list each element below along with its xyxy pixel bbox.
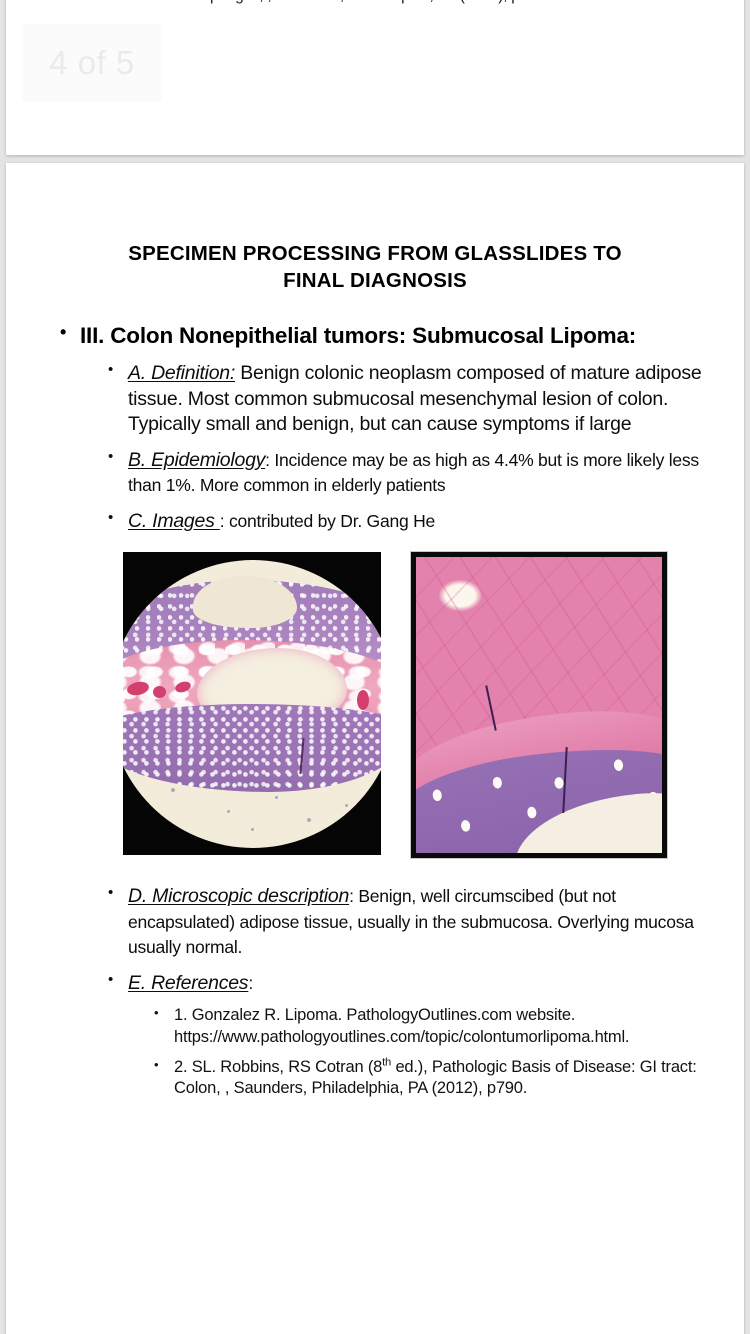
debris-dot-4	[307, 818, 311, 822]
images-label: C. Images	[128, 510, 220, 532]
microscope-field-circle	[123, 560, 381, 848]
tissue-section-left	[123, 574, 381, 782]
references-label: E. References	[128, 972, 248, 994]
document-page-previous[interactable]: http://www.pathologyoutlines.com/topic/e…	[6, 0, 744, 155]
epidemiology-label: B. Epidemiology	[128, 449, 265, 471]
reference-1-text: 1. Gonzalez R. Lipoma. PathologyOutlines…	[174, 1006, 629, 1045]
debris-dot-2	[227, 810, 230, 813]
reference-item-2: 2. SL. Robbins, RS Cotran (8th ed.), Pat…	[154, 1057, 704, 1099]
bullet-references: E. References:	[108, 971, 704, 997]
slide-title: SPECIMEN PROCESSING FROM GLASSLIDES TO F…	[46, 241, 704, 294]
high-power-histology-image	[411, 552, 667, 858]
images-text: : contributed by Dr. Gang He	[220, 511, 435, 531]
reference-item-1: 1. Gonzalez R. Lipoma. PathologyOutlines…	[154, 1005, 704, 1047]
bullet-definition: A. Definition: Benign colonic neoplasm c…	[108, 361, 704, 438]
reference-2-part1: 2. SL. Robbins, RS Cotran (8	[174, 1058, 382, 1076]
previous-reference-item-2: 2. SL. Robbins, RS Cotran (8th ed.), Pat…	[166, 0, 692, 7]
document-page-current[interactable]: SPECIMEN PROCESSING FROM GLASSLIDES TO F…	[6, 163, 744, 1334]
previous-slide-references: http://www.pathologyoutlines.com/topic/e…	[6, 0, 744, 7]
microscope-field-image	[123, 552, 381, 855]
microscopic-label: D. Microscopic description	[128, 885, 349, 907]
debris-dot-6	[345, 804, 348, 807]
mucosa-notch	[193, 576, 297, 628]
bullet-epidemiology: B. Epidemiology: Incidence may be as hig…	[108, 448, 704, 499]
debris-dot-3	[275, 796, 278, 799]
document-viewer[interactable]: http://www.pathologyoutlines.com/topic/e…	[0, 0, 750, 1334]
reference-2-superscript: th	[382, 1056, 391, 1068]
debris-dot-5	[251, 828, 254, 831]
slide-content: SPECIMEN PROCESSING FROM GLASSLIDES TO F…	[6, 163, 744, 1099]
definition-label: A. Definition:	[128, 362, 235, 384]
main-bullet-colon-lipoma: III. Colon Nonepithelial tumors: Submuco…	[60, 322, 704, 351]
debris-dot-1	[171, 788, 175, 792]
previous-reference-2-part2: ed.), Pathologic Basis of Disease: GI tr…	[184, 0, 670, 4]
bullet-microscopic-description: D. Microscopic description: Benign, well…	[108, 884, 704, 961]
references-colon: :	[248, 973, 253, 993]
figure-row	[46, 552, 704, 858]
mucosa-band-bottom	[123, 704, 381, 792]
bullet-images: C. Images : contributed by Dr. Gang He	[108, 509, 704, 535]
